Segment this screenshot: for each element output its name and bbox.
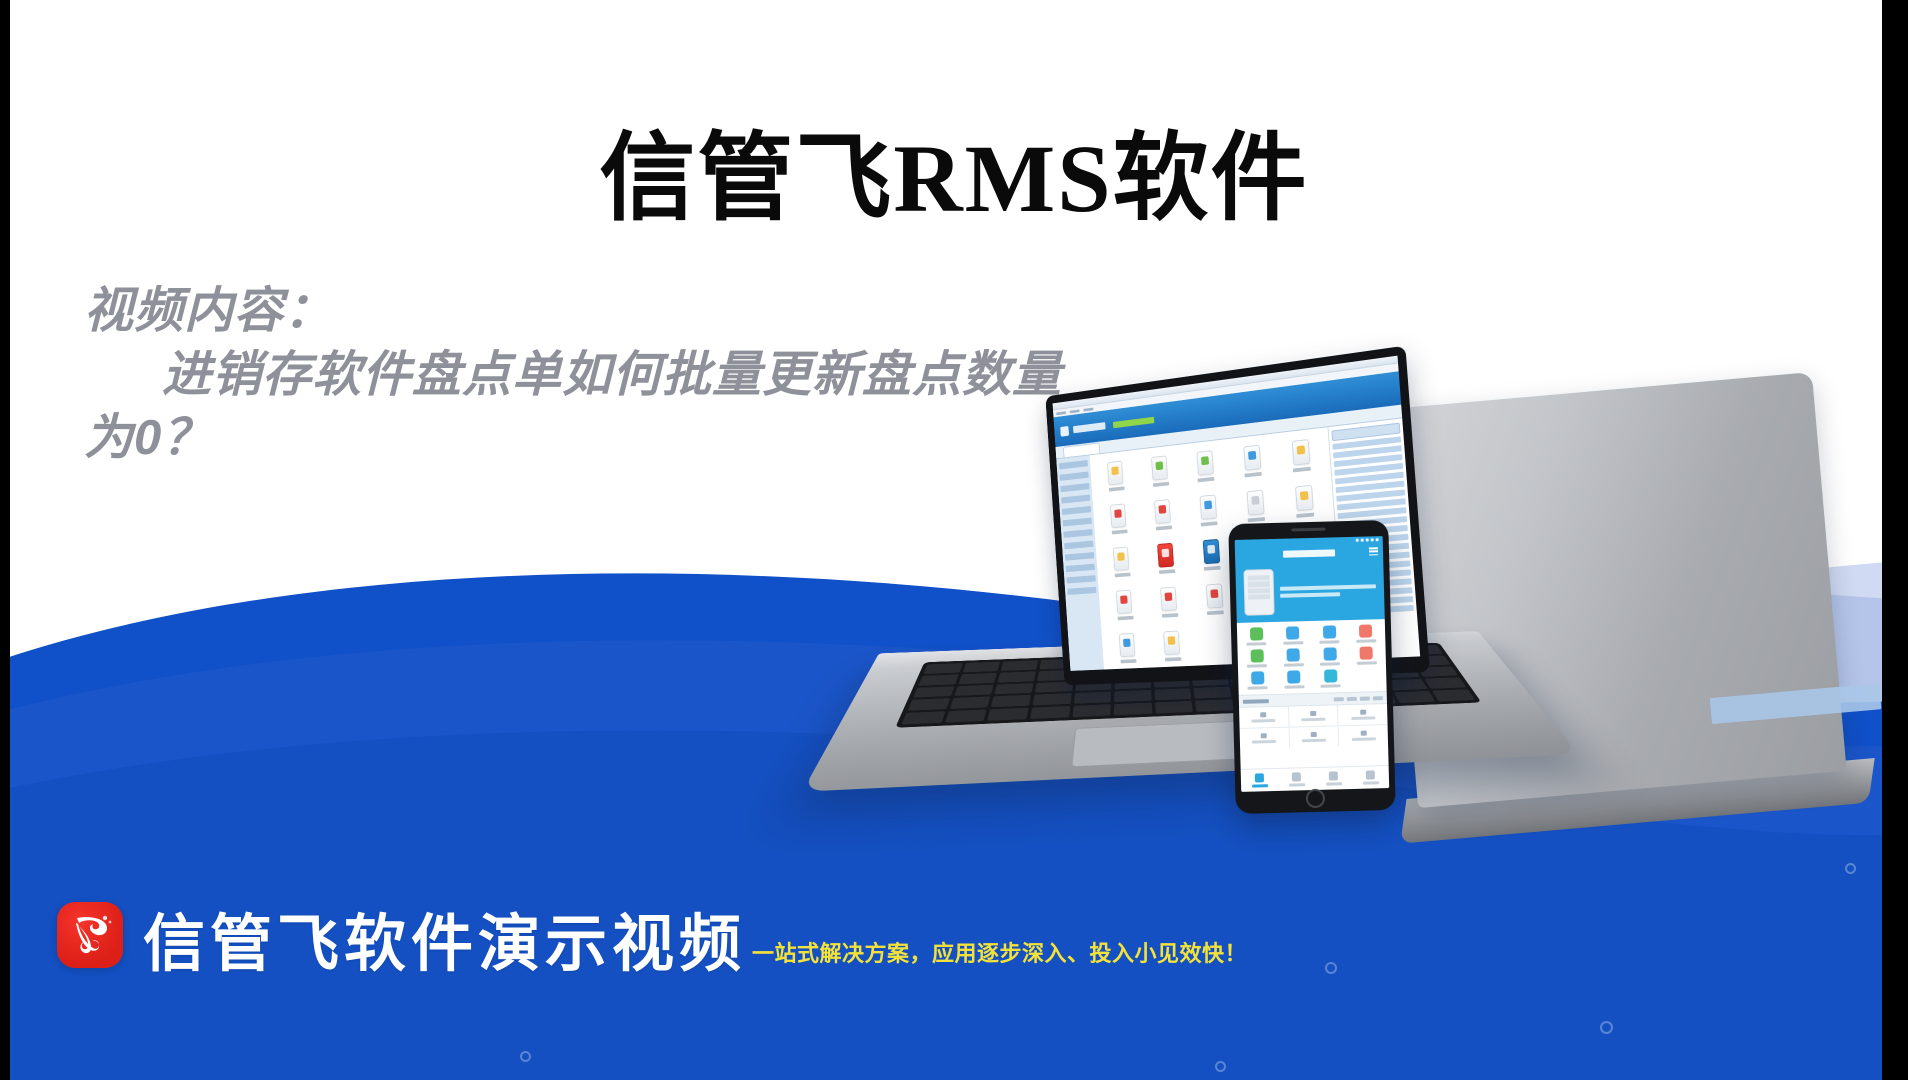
app-icon [1101, 545, 1144, 588]
mobile-stat-cell [1239, 707, 1288, 728]
mobile-shortcut-grid [1237, 619, 1387, 695]
mobile-shortcut [1240, 671, 1275, 690]
mobile-stat-cell [1289, 726, 1338, 747]
mobile-stats-grid [1239, 704, 1388, 749]
footer-brand-bar: 信管飞软件演示视频 一站式解决方案，应用逐步深入、投入小见效快！ [0, 890, 1908, 1080]
subtitle-lead-label: 视频内容： [84, 280, 1094, 344]
mobile-tab-home[interactable] [1241, 769, 1279, 792]
mobile-shortcut [1239, 627, 1274, 646]
mobile-shortcut [1313, 669, 1348, 688]
mobile-tab-modules[interactable] [1278, 768, 1316, 791]
decorative-dot [1215, 1061, 1226, 1072]
menu-icon[interactable] [1369, 547, 1378, 555]
mobile-stat-cell [1339, 725, 1388, 746]
app-icon [1147, 586, 1192, 629]
mobile-shortcut [1240, 649, 1275, 668]
banner-text-lines [1280, 584, 1376, 598]
mobile-shortcut [1277, 670, 1312, 689]
app-icon [1141, 498, 1185, 542]
mobile-shortcut [1275, 626, 1310, 645]
mobile-stat-cell [1289, 705, 1338, 726]
xinguanfei-bird-logo-icon [57, 902, 123, 968]
mobile-shortcut [1348, 624, 1383, 643]
app-icon [1186, 493, 1232, 538]
mobile-tab-reports[interactable] [1315, 767, 1353, 790]
mobile-shortcut [1312, 625, 1347, 644]
decorative-dot [1845, 863, 1856, 874]
app-icon [1144, 542, 1189, 585]
app-icon [1138, 454, 1182, 498]
decorative-dot [520, 1051, 531, 1062]
banner-device-icon [1243, 569, 1274, 616]
mobile-shortcut [1313, 647, 1348, 666]
slide-title: 信管飞RMS软件 [0, 126, 1908, 232]
letterbox-right [1882, 0, 1908, 1080]
mobile-shortcut [1350, 668, 1385, 687]
app-icon [1277, 437, 1326, 484]
smartphone-illustration [1228, 520, 1396, 814]
mobile-shortcut [1276, 648, 1311, 667]
app-icon [1095, 459, 1138, 503]
decorative-dot [1325, 962, 1337, 974]
mobile-tab-bar [1241, 765, 1390, 792]
presentation-slide: 信管飞RMS软件 视频内容： 进销存软件盘点单如何批量更新盘点数量为0？ [0, 0, 1908, 1080]
app-icon [1103, 589, 1146, 631]
slide-subtitle-block: 视频内容： 进销存软件盘点单如何批量更新盘点数量为0？ [84, 280, 1094, 471]
mobile-tab-profile[interactable] [1352, 766, 1390, 789]
letterbox-left [0, 0, 10, 1080]
decorative-dot [1600, 1021, 1613, 1034]
mobile-stat-cell [1240, 728, 1289, 749]
mobile-app-title [1283, 549, 1335, 557]
footer-tagline: 一站式解决方案，应用逐步深入、投入小见效快！ [752, 936, 1247, 968]
app-icon [1150, 630, 1195, 671]
phone-home-button[interactable] [1306, 789, 1325, 808]
mobile-shortcut [1349, 646, 1384, 665]
app-brand-highlight [1113, 416, 1154, 428]
footer-brand-name: 信管飞软件演示视频 [143, 914, 746, 976]
app-icon [1183, 449, 1229, 494]
phone-screen [1235, 536, 1390, 792]
subtitle-body-text: 进销存软件盘点单如何批量更新盘点数量为0？ [84, 344, 1094, 471]
app-icon [1106, 632, 1149, 671]
mobile-app-banner [1235, 559, 1385, 623]
app-icon [1229, 443, 1276, 489]
app-icon [1098, 502, 1141, 545]
mobile-stat-cell [1338, 704, 1387, 725]
